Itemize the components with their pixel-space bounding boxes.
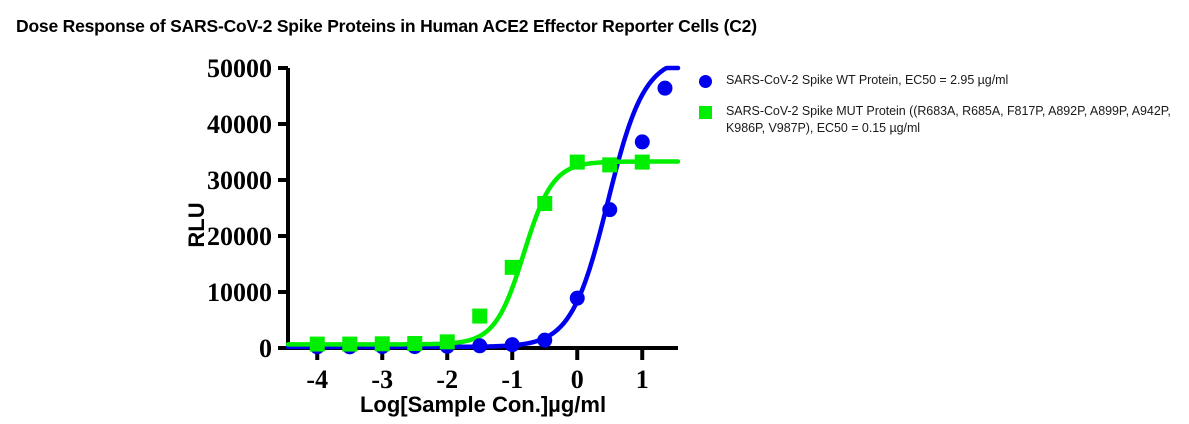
data-point-circle bbox=[505, 337, 520, 352]
x-tick-label: -1 bbox=[501, 365, 523, 394]
x-tick-label: 1 bbox=[636, 365, 649, 394]
y-tick-label: 20000 bbox=[207, 222, 272, 251]
curve-wt-fit bbox=[288, 68, 678, 347]
y-axis-tick-labels: 01000020000300004000050000 bbox=[207, 54, 272, 363]
y-tick-label: 50000 bbox=[207, 54, 272, 83]
x-axis-title: Log[Sample Con.]µg/ml bbox=[360, 392, 606, 417]
data-point-square bbox=[602, 157, 617, 172]
legend-item-wt[interactable]: SARS-CoV-2 Spike WT Protein, EC50 = 2.95… bbox=[684, 72, 1184, 89]
data-point-circle bbox=[537, 333, 552, 348]
legend-label-mut: SARS-CoV-2 Spike MUT Protein ((R683A, R6… bbox=[726, 103, 1184, 137]
circle-marker-icon bbox=[699, 75, 712, 88]
data-point-square bbox=[635, 155, 650, 170]
fit-curves bbox=[288, 68, 678, 347]
x-tick-label: 0 bbox=[571, 365, 584, 394]
data-point-circle bbox=[635, 134, 650, 149]
data-point-square bbox=[375, 336, 390, 351]
data-point-square bbox=[440, 334, 455, 349]
plot-area: 01000020000300004000050000 -4-3-2-101 Lo… bbox=[0, 0, 1189, 424]
data-point-square bbox=[505, 260, 520, 275]
x-tick-label: -2 bbox=[436, 365, 458, 394]
legend-item-mut[interactable]: SARS-CoV-2 Spike MUT Protein ((R683A, R6… bbox=[684, 103, 1184, 137]
legend-label-wt: SARS-CoV-2 Spike WT Protein, EC50 = 2.95… bbox=[726, 72, 1008, 89]
data-point-square bbox=[472, 309, 487, 324]
data-point-circle bbox=[570, 291, 585, 306]
legend: SARS-CoV-2 Spike WT Protein, EC50 = 2.95… bbox=[684, 72, 1184, 151]
data-point-square bbox=[537, 196, 552, 211]
data-points bbox=[310, 81, 673, 355]
y-tick-label: 0 bbox=[259, 334, 272, 363]
square-marker-icon bbox=[699, 106, 712, 119]
legend-marker-cell bbox=[684, 72, 726, 88]
data-point-square bbox=[407, 336, 422, 351]
y-tick-label: 30000 bbox=[207, 166, 272, 195]
y-tick-label: 10000 bbox=[207, 278, 272, 307]
data-point-square bbox=[310, 337, 325, 352]
data-point-circle bbox=[602, 202, 617, 217]
x-tick-label: -4 bbox=[306, 365, 328, 394]
data-point-circle bbox=[658, 81, 673, 96]
legend-marker-cell bbox=[684, 103, 726, 119]
data-point-circle bbox=[472, 338, 487, 353]
data-point-square bbox=[342, 337, 357, 352]
y-tick-label: 40000 bbox=[207, 110, 272, 139]
y-axis-title: RLU bbox=[184, 202, 209, 247]
data-point-square bbox=[570, 155, 585, 170]
figure-container: Dose Response of SARS-CoV-2 Spike Protei… bbox=[0, 0, 1189, 424]
x-axis-tick-labels: -4-3-2-101 bbox=[306, 365, 648, 394]
x-tick-label: -3 bbox=[371, 365, 393, 394]
